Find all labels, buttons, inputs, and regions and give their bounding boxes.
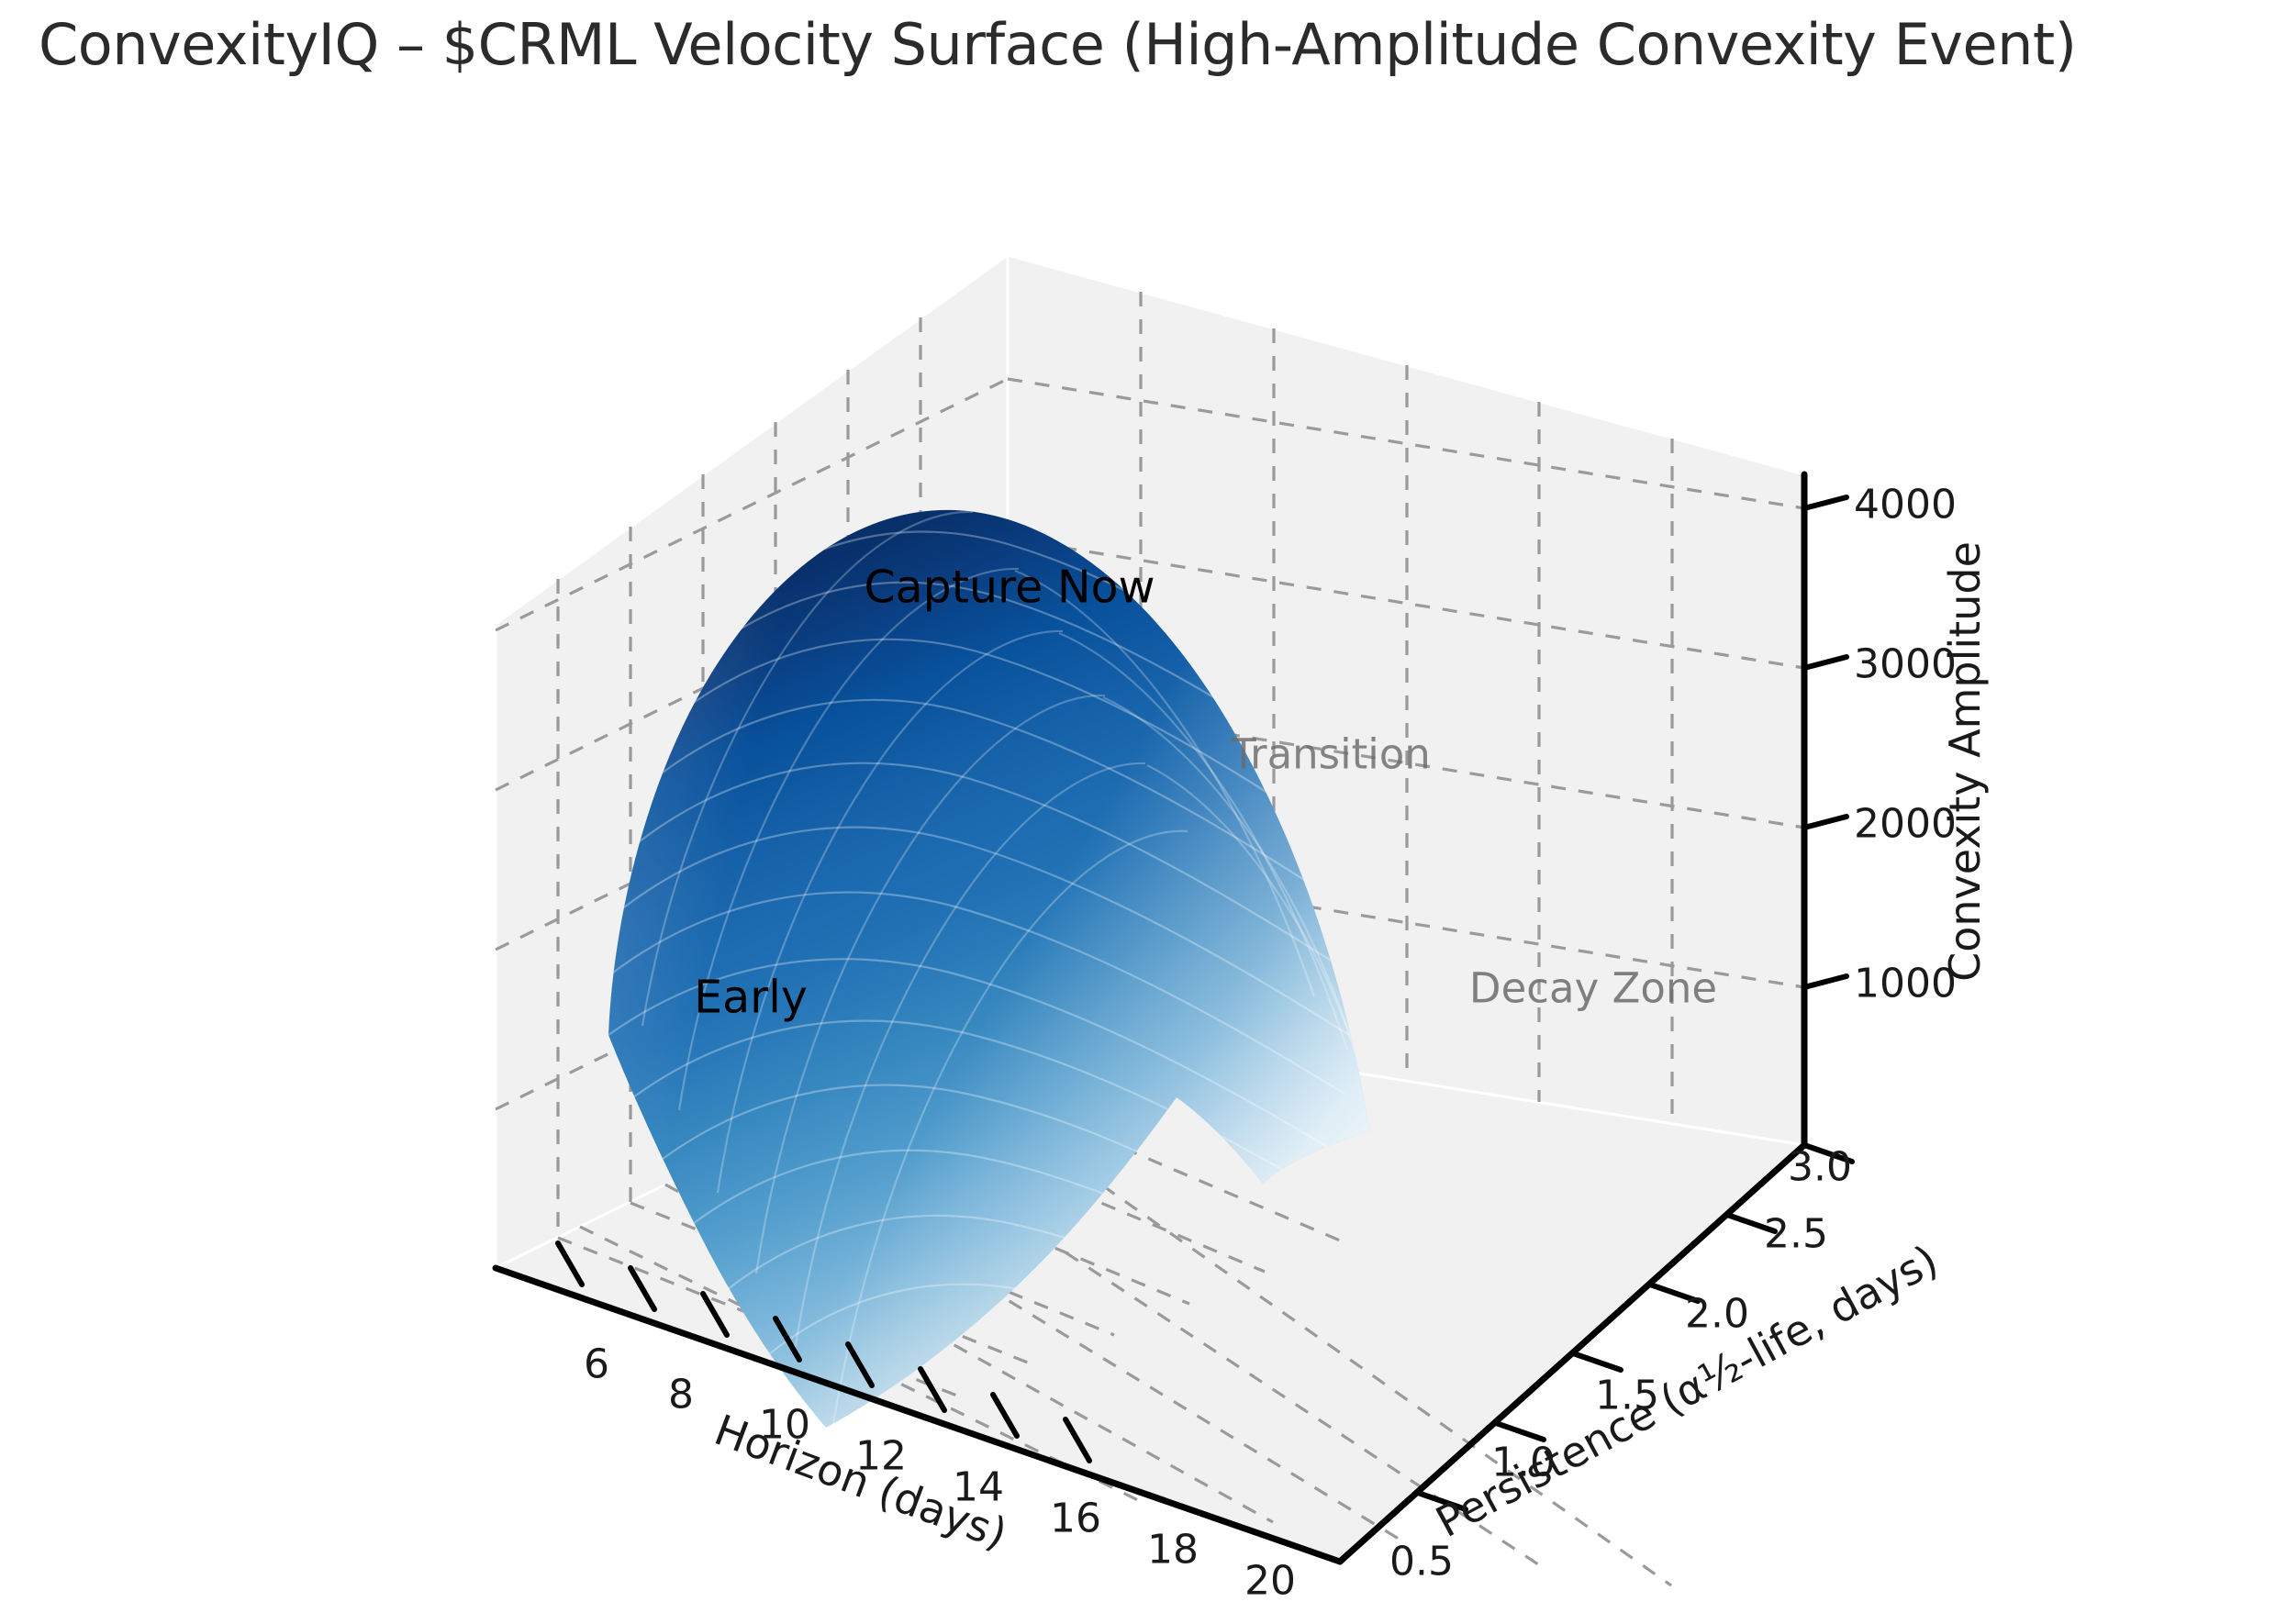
y-tick-label-5: 3.0	[1788, 1144, 1852, 1191]
x-tick-label-1: 8	[668, 1372, 694, 1418]
z-axis-title: Convexity Amplitude	[1940, 541, 1990, 982]
x-tick-label-0: 6	[584, 1341, 609, 1388]
y-tick-label-3: 2.0	[1685, 1291, 1749, 1338]
annotation-early: Early	[694, 972, 808, 1024]
annotation-decay-zone: Decay Zone	[1469, 964, 1717, 1013]
y-tick-label-0: 0.5	[1389, 1539, 1454, 1585]
annotation-transition: Transition	[1231, 730, 1431, 779]
x-tick-label-5: 16	[1050, 1496, 1101, 1542]
z-axis-ticks	[1804, 497, 1846, 987]
y-tick-label-4: 2.5	[1764, 1211, 1828, 1258]
annotation-capture-now: Capture Now	[864, 562, 1155, 614]
x-tick-label-7: 20	[1244, 1558, 1296, 1605]
x-tick-label-6: 18	[1147, 1527, 1199, 1574]
z-tick-label-3: 4000	[1854, 482, 1957, 528]
figure-canvas: ConvexityIQ – $CRML Velocity Surface (Hi…	[0, 0, 2276, 1624]
